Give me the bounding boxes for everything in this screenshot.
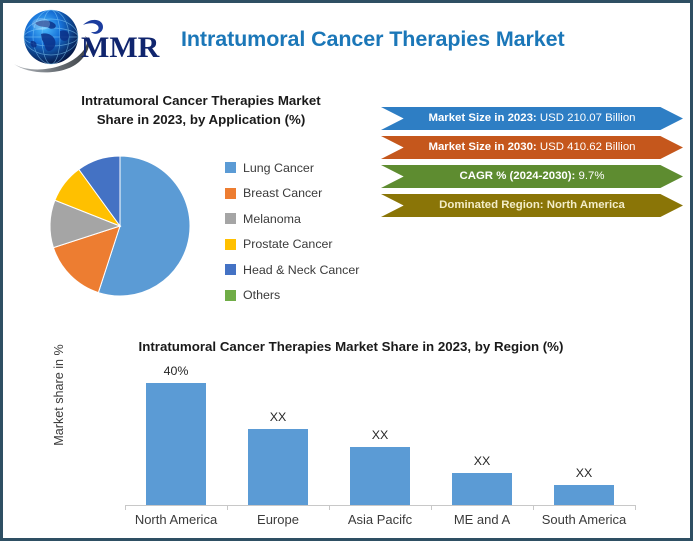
legend-item-label: Others — [243, 288, 280, 302]
legend-item-label: Breast Cancer — [243, 186, 322, 200]
pie-chart-title: Intratumoral Cancer Therapies Market Sha… — [51, 91, 351, 129]
kpi-banner-text: CAGR % (2024-2030): 9.7% — [460, 171, 605, 182]
axis-tick — [227, 505, 228, 510]
pie-chart — [45, 151, 195, 301]
bar-category-label: Europe — [227, 512, 329, 527]
bar-value-label: XX — [329, 429, 431, 441]
kpi-banner-label: CAGR % (2024-2030): — [460, 170, 576, 182]
bar-rect — [452, 473, 512, 505]
legend-swatch-icon — [225, 162, 236, 173]
kpi-banner-value: USD 410.62 Billion — [537, 141, 636, 153]
bar-category-label: North America — [125, 512, 227, 527]
pie-chart-legend: Lung CancerBreast CancerMelanomaProstate… — [225, 155, 385, 308]
kpi-banner-label: Market Size in 2030: — [428, 141, 536, 153]
legend-item-label: Lung Cancer — [243, 161, 314, 175]
kpi-banner: CAGR % (2024-2030): 9.7% — [381, 165, 683, 188]
mmr-logo: MMR — [11, 7, 161, 75]
bar-rect — [350, 447, 410, 505]
pie-chart-svg — [45, 151, 195, 301]
axis-tick — [431, 505, 432, 510]
legend-item: Melanoma — [225, 206, 385, 232]
bar-item: XX — [533, 365, 635, 505]
bar-chart-title: Intratumoral Cancer Therapies Market Sha… — [51, 339, 651, 354]
kpi-banner: Market Size in 2023: USD 210.07 Billion — [381, 107, 683, 130]
kpi-banner-value: 9.7% — [575, 170, 604, 182]
kpi-banner-value: USD 210.07 Billion — [537, 112, 636, 124]
bar-item: XX — [431, 365, 533, 505]
kpi-banner-text: Market Size in 2023: USD 210.07 Billion — [428, 113, 635, 124]
bar-value-label: XX — [431, 455, 533, 467]
axis-tick — [329, 505, 330, 510]
bar-rect — [146, 383, 206, 505]
bar-item: XX — [227, 365, 329, 505]
kpi-banner-text: Dominated Region: North America — [439, 200, 625, 211]
bar-category-label: ME and A — [431, 512, 533, 527]
kpi-banner-label: Market Size in 2023: — [428, 112, 536, 124]
bar-value-label: XX — [227, 411, 329, 423]
legend-swatch-icon — [225, 239, 236, 250]
legend-item-label: Melanoma — [243, 212, 301, 226]
legend-swatch-icon — [225, 213, 236, 224]
bar-item: XX — [329, 365, 431, 505]
infographic-root: MMR Intratumoral Cancer Therapies Market… — [0, 0, 693, 541]
kpi-banner: Dominated Region: North America — [381, 194, 683, 217]
bar-chart-plot-area: 40%XXXXXXXX — [125, 365, 635, 505]
axis-tick — [125, 505, 126, 510]
bar-rect — [248, 429, 308, 505]
legend-item: Prostate Cancer — [225, 232, 385, 258]
kpi-banner-label: Dominated Region: North America — [439, 199, 625, 211]
bar-value-label: 40% — [125, 365, 227, 377]
kpi-banner: Market Size in 2030: USD 410.62 Billion — [381, 136, 683, 159]
globe-icon: MMR — [11, 7, 161, 75]
bar-value-label: XX — [533, 467, 635, 479]
bar-chart-x-axis — [125, 505, 635, 506]
axis-tick — [533, 505, 534, 510]
bar-rect — [554, 485, 614, 505]
legend-item-label: Head & Neck Cancer — [243, 263, 359, 277]
axis-tick — [635, 505, 636, 510]
pie-chart-title-line2: Share in 2023, by Application (%) — [51, 110, 351, 129]
legend-swatch-icon — [225, 264, 236, 275]
logo-wordmark: MMR — [81, 31, 160, 64]
legend-item: Lung Cancer — [225, 155, 385, 181]
bar-item: 40% — [125, 365, 227, 505]
bar-chart-y-axis-label: Market share in % — [52, 335, 66, 455]
bar-category-label: Asia Pacifc — [329, 512, 431, 527]
legend-item-label: Prostate Cancer — [243, 237, 333, 251]
kpi-banner-text: Market Size in 2030: USD 410.62 Billion — [428, 142, 635, 153]
legend-item: Breast Cancer — [225, 181, 385, 207]
legend-swatch-icon — [225, 290, 236, 301]
kpi-banner-list: Market Size in 2023: USD 210.07 BillionM… — [381, 107, 683, 223]
legend-item: Others — [225, 283, 385, 309]
bar-category-label: South America — [533, 512, 635, 527]
legend-swatch-icon — [225, 188, 236, 199]
pie-chart-title-line1: Intratumoral Cancer Therapies Market — [51, 91, 351, 110]
header: MMR Intratumoral Cancer Therapies Market — [3, 3, 690, 79]
bar-chart-category-labels: North AmericaEuropeAsia PacifcME and ASo… — [125, 512, 635, 534]
legend-item: Head & Neck Cancer — [225, 257, 385, 283]
page-title: Intratumoral Cancer Therapies Market — [181, 27, 671, 52]
